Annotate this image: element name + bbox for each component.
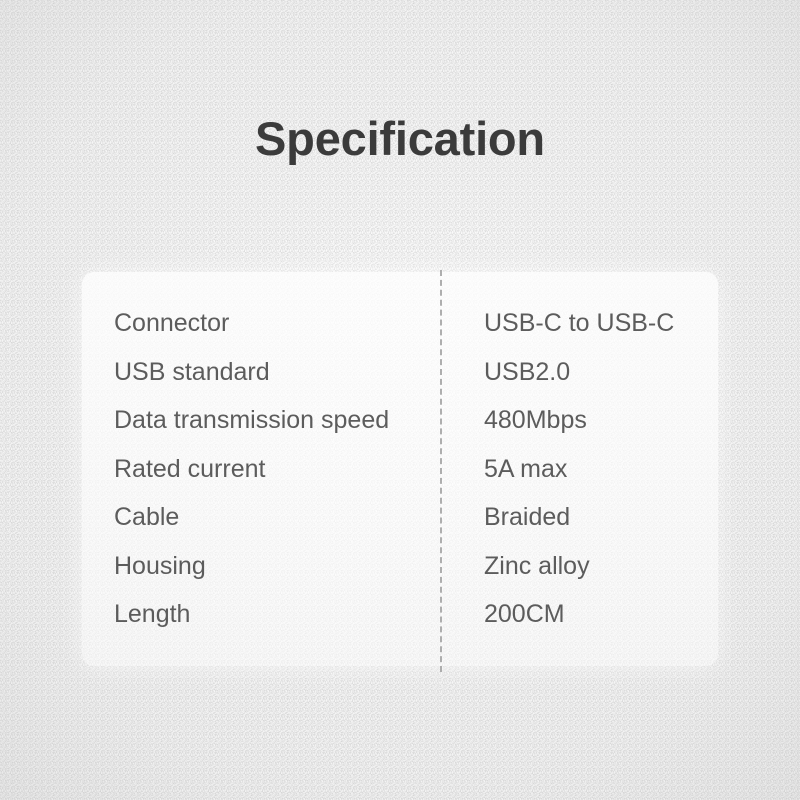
spec-label: Connector <box>114 306 484 340</box>
spec-value: 200CM <box>484 597 734 631</box>
spec-label: Cable <box>114 500 484 534</box>
specification-table: ConnectorUSB-C to USB-CUSB standardUSB2.… <box>114 306 734 646</box>
spec-value: USB2.0 <box>484 355 734 389</box>
spec-page: Specification ConnectorUSB-C to USB-CUSB… <box>0 0 800 800</box>
spec-label: Data transmission speed <box>114 403 484 437</box>
spec-label: Length <box>114 597 484 631</box>
spec-row: Length200CM <box>114 597 734 646</box>
spec-value: Braided <box>484 500 734 534</box>
spec-value: 480Mbps <box>484 403 734 437</box>
spec-label: Rated current <box>114 452 484 486</box>
spec-value: Zinc alloy <box>484 549 734 583</box>
spec-row: Rated current5A max <box>114 452 734 501</box>
spec-row: HousingZinc alloy <box>114 549 734 598</box>
spec-value: USB-C to USB-C <box>484 306 734 340</box>
spec-row: Data transmission speed480Mbps <box>114 403 734 452</box>
spec-value: 5A max <box>484 452 734 486</box>
spec-label: USB standard <box>114 355 484 389</box>
page-title: Specification <box>0 113 800 165</box>
spec-row: ConnectorUSB-C to USB-C <box>114 306 734 355</box>
spec-row: CableBraided <box>114 500 734 549</box>
spec-label: Housing <box>114 549 484 583</box>
spec-row: USB standardUSB2.0 <box>114 355 734 404</box>
